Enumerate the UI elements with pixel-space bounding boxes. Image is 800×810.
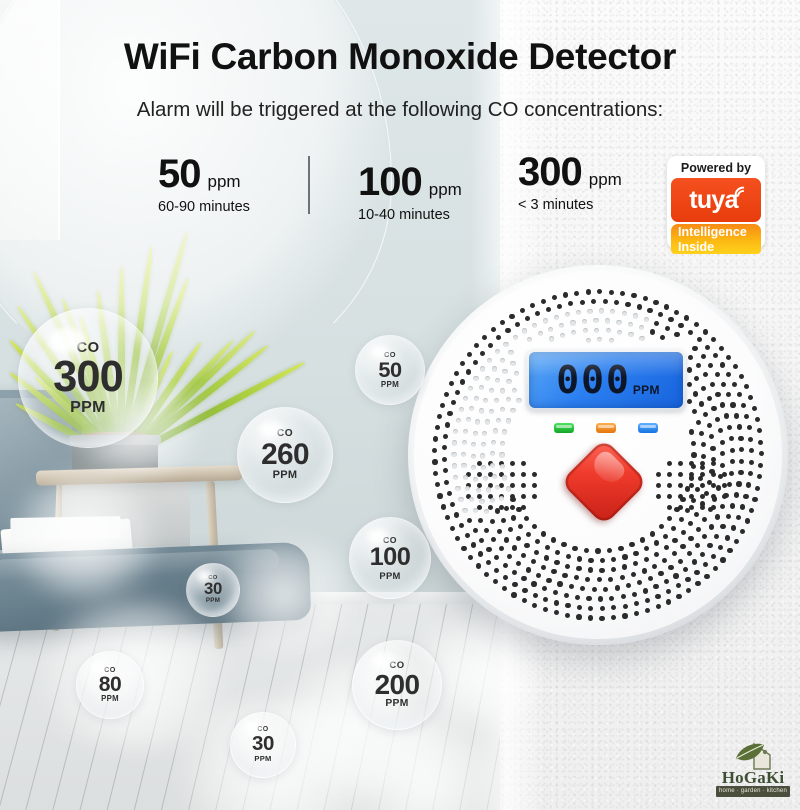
threshold-value: 300 [518,150,582,195]
orange-led [596,423,616,433]
co-bubble-value: 200 [375,671,420,699]
threshold-value: 100 [358,160,422,205]
page-subtitle: Alarm will be triggered at the following… [0,98,800,122]
co-bubble: CO50PPM [355,335,425,405]
threshold-item-50: 50 ppm 60-90 minutes [158,152,250,215]
co-bubble-unit: PPM [385,699,408,709]
co-bubble: CO80PPM [76,651,144,719]
armchair-seat [0,542,311,633]
threshold-time: 10-40 minutes [358,207,462,223]
co-bubble-unit: PPM [379,571,400,580]
logo-tagline: home · garden · kitchen [716,786,790,797]
tuya-tagline-line1: Intelligence [678,225,761,240]
co-bubble-unit: PPM [101,695,119,703]
threshold-divider [308,156,310,214]
co-bubble-value: 300 [53,356,123,399]
co-bubble-value: 50 [378,359,401,381]
co-bubble: CO30PPM [230,712,296,778]
lcd-unit-label: PPM [633,383,660,397]
lcd-screen: 000 PPM [529,352,683,408]
test-button[interactable] [560,438,648,526]
co-bubble-value: 80 [99,674,122,695]
threshold-unit: ppm [429,180,462,200]
threshold-item-300: 300 ppm < 3 minutes [518,150,622,213]
lcd-display: 000 PPM [526,349,686,411]
co-bubble: CO300PPM [18,308,158,448]
co-bubble-value: 30 [204,581,222,598]
co-bubble: CO100PPM [349,517,431,599]
page-title: WiFi Carbon Monoxide Detector [0,36,800,78]
tuya-badge: Powered by tuya Intelligence Inside [667,156,765,249]
threshold-unit: ppm [208,172,241,192]
threshold-time: 60-90 minutes [158,199,250,215]
product-banner: WiFi Carbon Monoxide Detector Alarm will… [0,0,800,810]
threshold-value: 50 [158,152,201,197]
blue-led [638,423,658,433]
co-bubble: CO260PPM [237,407,333,503]
logo-wordmark: HoGaKi [712,768,794,788]
threshold-unit: ppm [589,170,622,190]
co-bubble: CO200PPM [352,640,442,730]
brand-logo: HoGaKi home · garden · kitchen [712,742,794,798]
threshold-item-100: 100 ppm 10-40 minutes [358,160,462,223]
co-bubble-value: 30 [252,734,274,754]
co-bubble: CO30PPM [186,563,240,617]
threshold-row: 50 ppm 60-90 minutes 100 ppm 10-40 minut… [118,152,658,230]
detector-face: 000 PPM [414,271,782,639]
lcd-reading: 000 [556,360,631,400]
co-bubble-value: 260 [261,440,309,470]
wifi-icon [733,184,750,198]
tuya-tagline-line2: Inside [678,240,761,255]
co-bubble-unit: PPM [381,381,399,389]
co-bubble-unit: PPM [70,399,106,415]
co-bubble-unit: PPM [206,598,220,604]
tuya-tagline: Intelligence Inside [671,224,761,254]
co-bubble-unit: PPM [273,470,298,481]
co-bubble-value: 100 [370,545,411,570]
co-detector-device: 000 PPM [408,265,788,645]
co-bubble-unit: PPM [254,755,271,763]
led-indicator-row [554,423,658,435]
tuya-powered-by-label: Powered by [671,160,761,176]
green-led [554,423,574,433]
threshold-time: < 3 minutes [518,197,622,213]
tuya-logo: tuya [671,178,761,222]
